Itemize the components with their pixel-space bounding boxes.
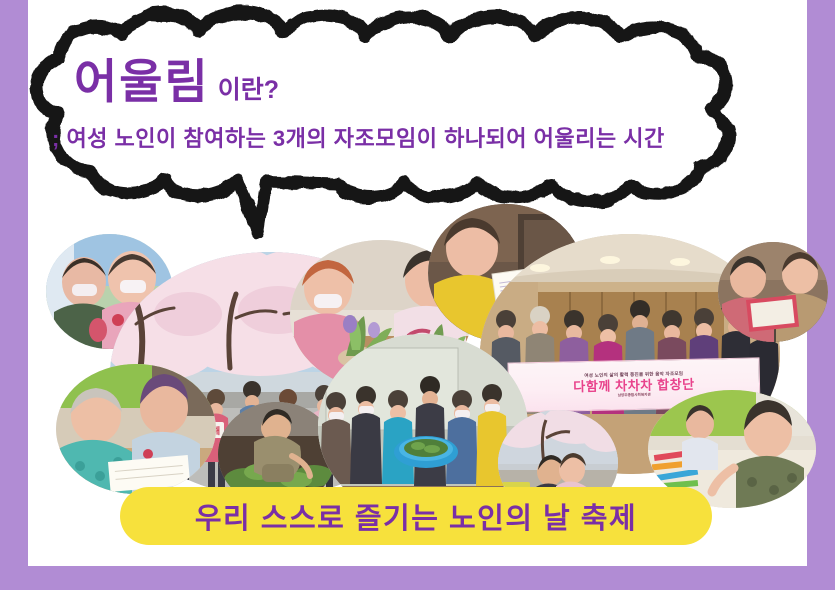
bottom-banner-label: 우리 스스로 즐기는 노인의 날 축제 — [195, 495, 637, 537]
photo-writing-class — [56, 364, 216, 494]
photo-reading-documents — [718, 242, 828, 342]
photo-banner-org: 남양주종합사회복지관 — [618, 393, 651, 399]
bottom-banner: 우리 스스로 즐기는 노인의 날 축제 — [120, 487, 712, 545]
poster-root: 사 랑 해 — [0, 0, 835, 590]
photo-collage: 사 랑 해 — [28, 212, 807, 484]
